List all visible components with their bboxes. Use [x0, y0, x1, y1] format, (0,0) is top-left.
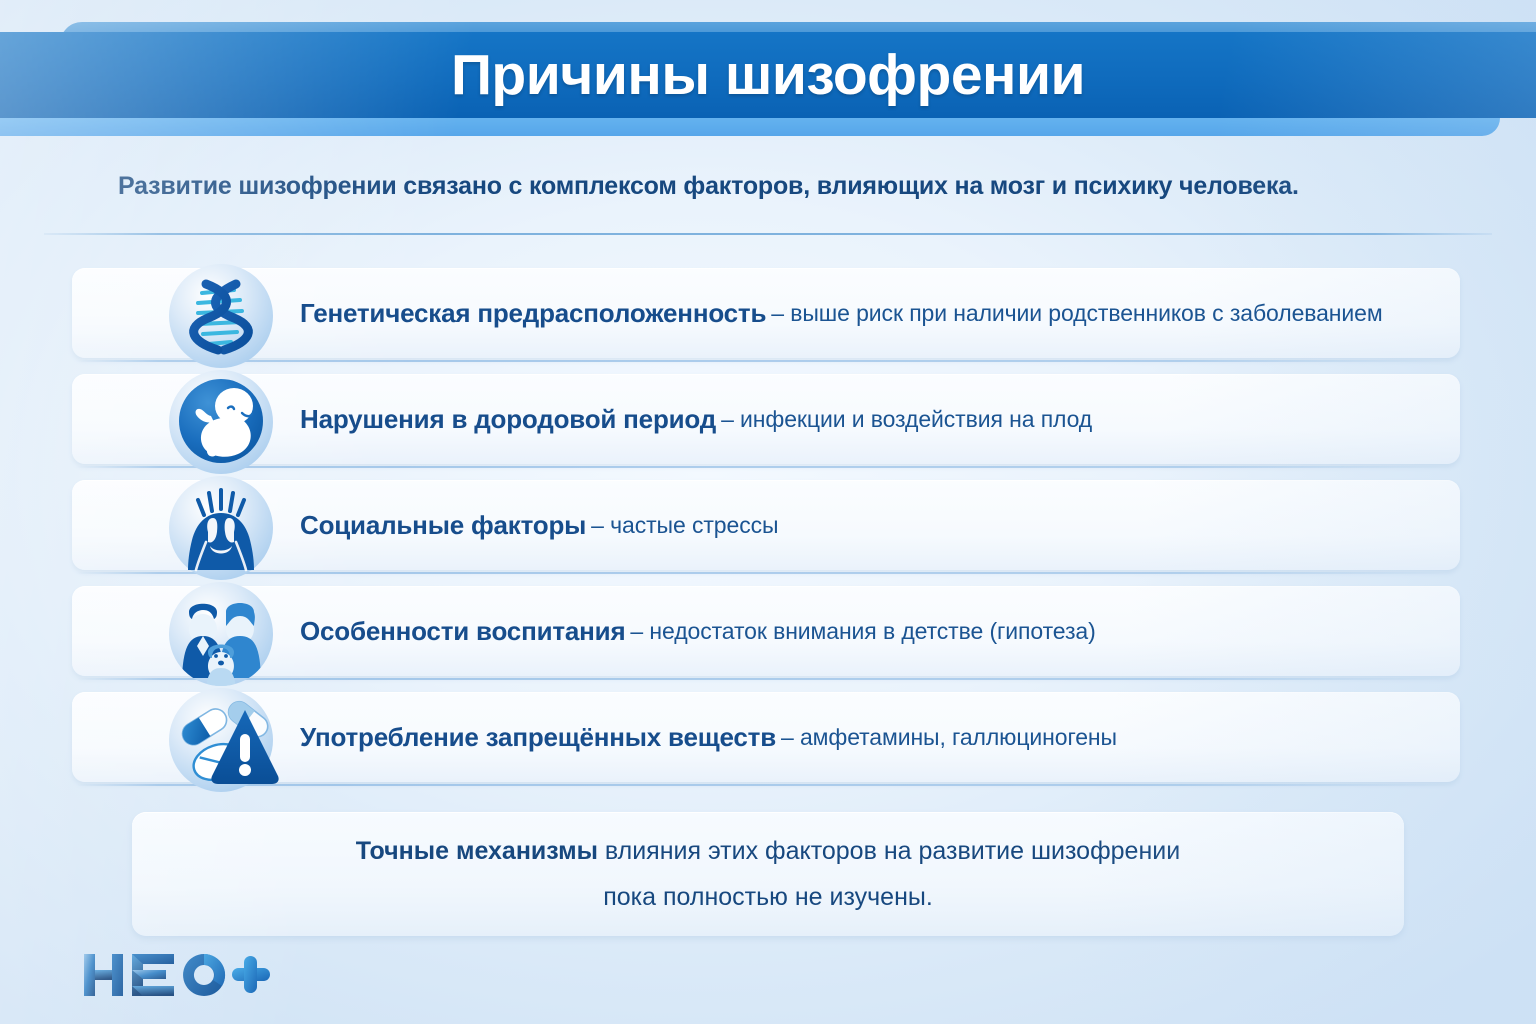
- factor-term: Особенности воспитания: [300, 616, 625, 647]
- factor-description: – частые стрессы: [591, 512, 778, 539]
- header-bottom-accent-strip: [0, 118, 1500, 136]
- factors-list: Генетическая предрасположенность – выше …: [0, 268, 1536, 798]
- list-item: Социальные факторы – частые стрессы: [0, 480, 1536, 576]
- dna-helix-icon: [162, 260, 280, 372]
- subtitle-divider: [44, 233, 1492, 235]
- conclusion-note-box: Точные механизмы влияния этих факторов н…: [132, 812, 1404, 936]
- factor-term: Нарушения в дородовой период: [300, 404, 716, 435]
- factor-description: – выше риск при наличии родственников с …: [771, 300, 1382, 327]
- stressed-person-icon: [162, 472, 280, 584]
- card-underline: [76, 466, 1456, 468]
- card-underline: [76, 360, 1456, 362]
- factor-term: Генетическая предрасположенность: [300, 298, 766, 329]
- list-item: Нарушения в дородовой период – инфекции …: [0, 374, 1536, 470]
- note-line-2: пока полностью не изучены.: [603, 874, 933, 920]
- family-icon: [162, 578, 280, 690]
- page-title: Причины шизофрении: [0, 32, 1536, 118]
- pills-warning-icon: [162, 684, 280, 796]
- note-line-1-rest: влияния этих факторов на развитие шизофр…: [598, 837, 1180, 865]
- list-item: Генетическая предрасположенность – выше …: [0, 268, 1536, 364]
- factor-text: Генетическая предрасположенность – выше …: [300, 268, 1383, 358]
- note-emphasis: Точные механизмы: [356, 837, 598, 865]
- factor-term: Социальные факторы: [300, 510, 586, 541]
- card-underline: [76, 572, 1456, 574]
- note-line-1: Точные механизмы влияния этих факторов н…: [356, 828, 1180, 874]
- factor-description: – амфетамины, галлюциногены: [781, 724, 1117, 751]
- factor-term: Употребление запрещённых веществ: [300, 722, 776, 753]
- factor-text: Социальные факторы – частые стрессы: [300, 480, 778, 570]
- subtitle-text: Развитие шизофрении связано с комплексом…: [118, 172, 1438, 201]
- logo-mark: [82, 948, 272, 1000]
- factor-description: – недостаток внимания в детстве (гипотез…: [630, 618, 1095, 645]
- factor-text: Употребление запрещённых веществ – амфет…: [300, 692, 1117, 782]
- fetus-icon: [162, 366, 280, 478]
- factor-text: Особенности воспитания – недостаток вним…: [300, 586, 1096, 676]
- factor-text: Нарушения в дородовой период – инфекции …: [300, 374, 1092, 464]
- list-item: Употребление запрещённых веществ – амфет…: [0, 692, 1536, 788]
- factor-description: – инфекции и воздействия на плод: [721, 406, 1092, 433]
- card-underline: [76, 784, 1456, 786]
- neo-plus-logo: [82, 946, 272, 1002]
- card-underline: [76, 678, 1456, 680]
- infographic-poster: Причины шизофрении Развитие шизофрении с…: [0, 0, 1536, 1024]
- list-item: Особенности воспитания – недостаток вним…: [0, 586, 1536, 682]
- header-banner: Причины шизофрении: [0, 0, 1536, 150]
